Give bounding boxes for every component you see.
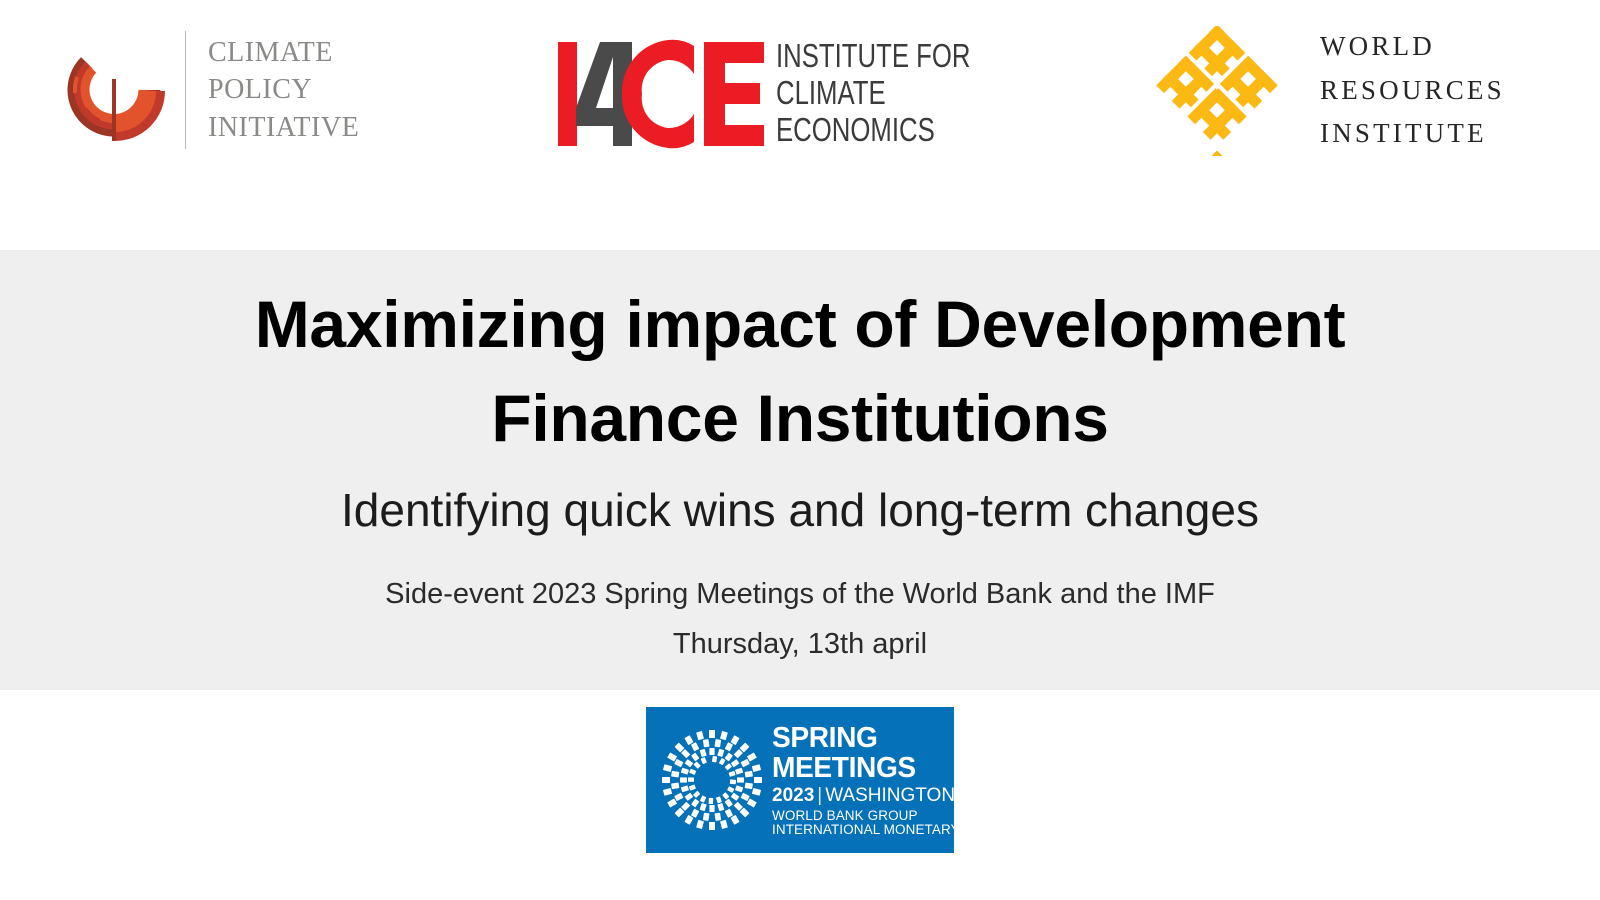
event-date-line: Thursday, 13th april <box>385 619 1215 670</box>
event-details: Side-event 2023 Spring Meetings of the W… <box>385 569 1215 671</box>
wri-word-line-2: RESOURCES <box>1320 69 1505 113</box>
wri-word-line-3: INSTITUTE <box>1320 112 1505 156</box>
spring-meetings-year-city: 2023|WASHINGTON DC <box>772 786 1001 805</box>
cpi-word-line-3: INITIATIVE <box>208 109 359 146</box>
spring-meetings-org-1: WORLD BANK GROUP <box>772 809 1001 823</box>
partner-logo-bar: CLIMATE POLICY INITIATIVE <box>0 0 1600 250</box>
wri-wordmark: WORLD RESOURCES INSTITUTE <box>1320 25 1505 156</box>
spring-meetings-org-2: INTERNATIONAL MONETARY FUND <box>772 823 1001 837</box>
spring-meetings-line-1: SPRING <box>772 724 994 753</box>
cpi-word-line-1: CLIMATE <box>208 34 359 71</box>
logo-spring-meetings: SPRING MEETINGS 2023|WASHINGTON DC WORLD… <box>646 707 954 853</box>
logo-world-resources-institute: WORLD RESOURCES INSTITUTE <box>1152 28 1505 153</box>
cpi-wordmark: CLIMATE POLICY INITIATIVE <box>208 34 359 146</box>
i4ce-tagline-line-2: CLIMATE <box>776 75 970 112</box>
world-resources-institute-lattice-icon <box>1152 26 1282 156</box>
presentation-slide: CLIMATE POLICY INITIATIVE <box>0 0 1600 900</box>
page-title: Maximizing impact of Development Finance… <box>140 278 1460 465</box>
climate-policy-initiative-mark-icon <box>55 31 173 149</box>
i4ce-tagline: INSTITUTE FOR CLIMATE ECONOMICS <box>776 38 970 149</box>
cpi-logo-divider <box>185 31 186 149</box>
spring-meetings-separator: | <box>817 785 822 806</box>
i4ce-tagline-line-3: ECONOMICS <box>776 112 970 149</box>
spring-meetings-line-2: MEETINGS <box>772 754 994 783</box>
i4ce-tagline-line-1: INSTITUTE FOR <box>776 38 970 75</box>
spring-meetings-globe-icon <box>660 728 764 832</box>
logo-i4ce: INSTITUTE FOR CLIMATE ECONOMICS <box>556 38 1025 153</box>
cpi-word-line-2: POLICY <box>208 71 359 108</box>
logo-climate-policy-initiative: CLIMATE POLICY INITIATIVE <box>55 30 359 150</box>
spring-meetings-city: WASHINGTON DC <box>825 785 988 806</box>
i4ce-wordmark-icon <box>556 38 766 150</box>
spring-meetings-year: 2023 <box>772 785 814 806</box>
title-band: Maximizing impact of Development Finance… <box>0 250 1600 690</box>
footer-area: SPRING MEETINGS 2023|WASHINGTON DC WORLD… <box>0 690 1600 900</box>
event-context-line: Side-event 2023 Spring Meetings of the W… <box>385 569 1215 620</box>
spring-meetings-text: SPRING MEETINGS 2023|WASHINGTON DC WORLD… <box>772 724 1001 837</box>
page-subtitle: Identifying quick wins and long-term cha… <box>341 483 1259 538</box>
wri-word-line-1: WORLD <box>1320 25 1505 69</box>
